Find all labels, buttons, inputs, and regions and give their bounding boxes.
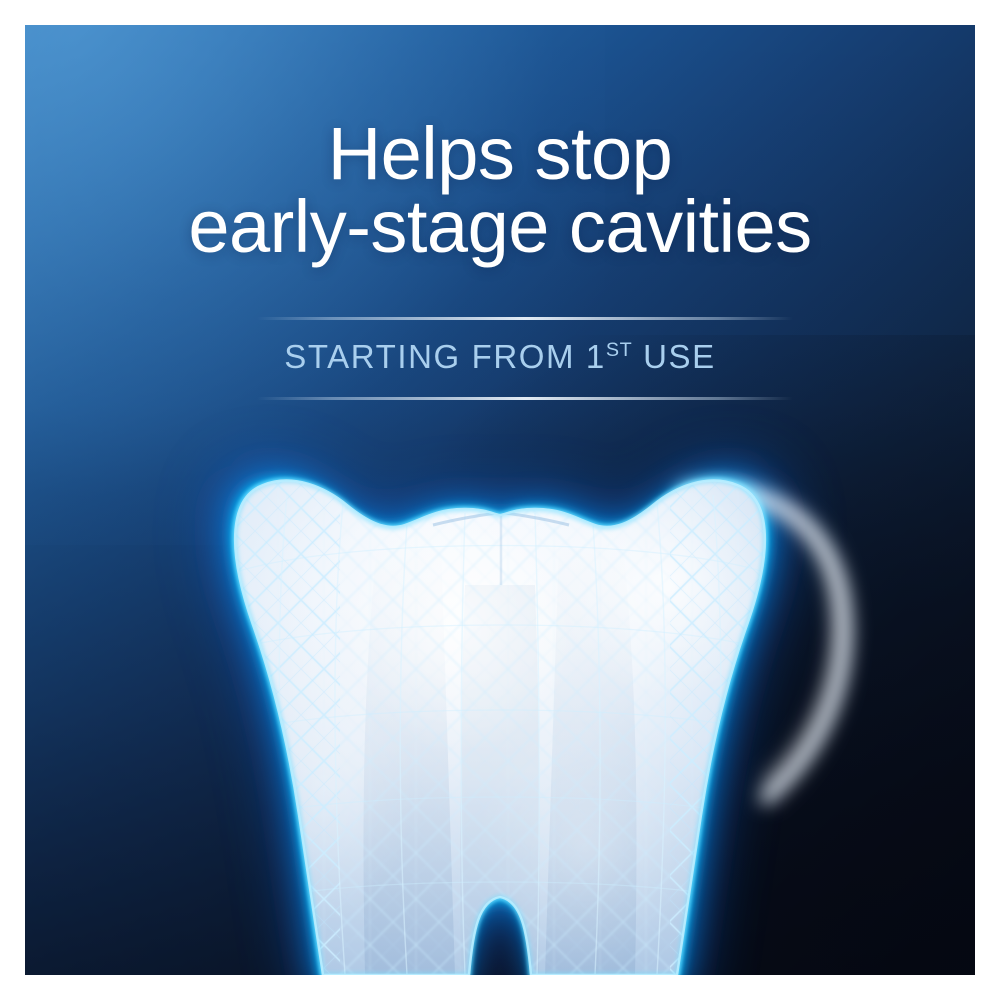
headline-line-2: early-stage cavities [25, 190, 975, 263]
headline-line-1: Helps stop [25, 117, 975, 190]
subheadline: STARTING FROM 1ST USE [25, 338, 975, 376]
subhead-superscript: ST [606, 339, 632, 361]
poster: Helps stop early-stage cavities STARTING… [0, 0, 1000, 1000]
divider-bottom [257, 397, 793, 400]
subhead-suffix: USE [632, 338, 715, 375]
divider-top [257, 317, 793, 320]
headline: Helps stop early-stage cavities [25, 117, 975, 264]
artwork-canvas: Helps stop early-stage cavities STARTING… [25, 25, 975, 975]
subhead-prefix: STARTING FROM 1 [284, 338, 606, 375]
